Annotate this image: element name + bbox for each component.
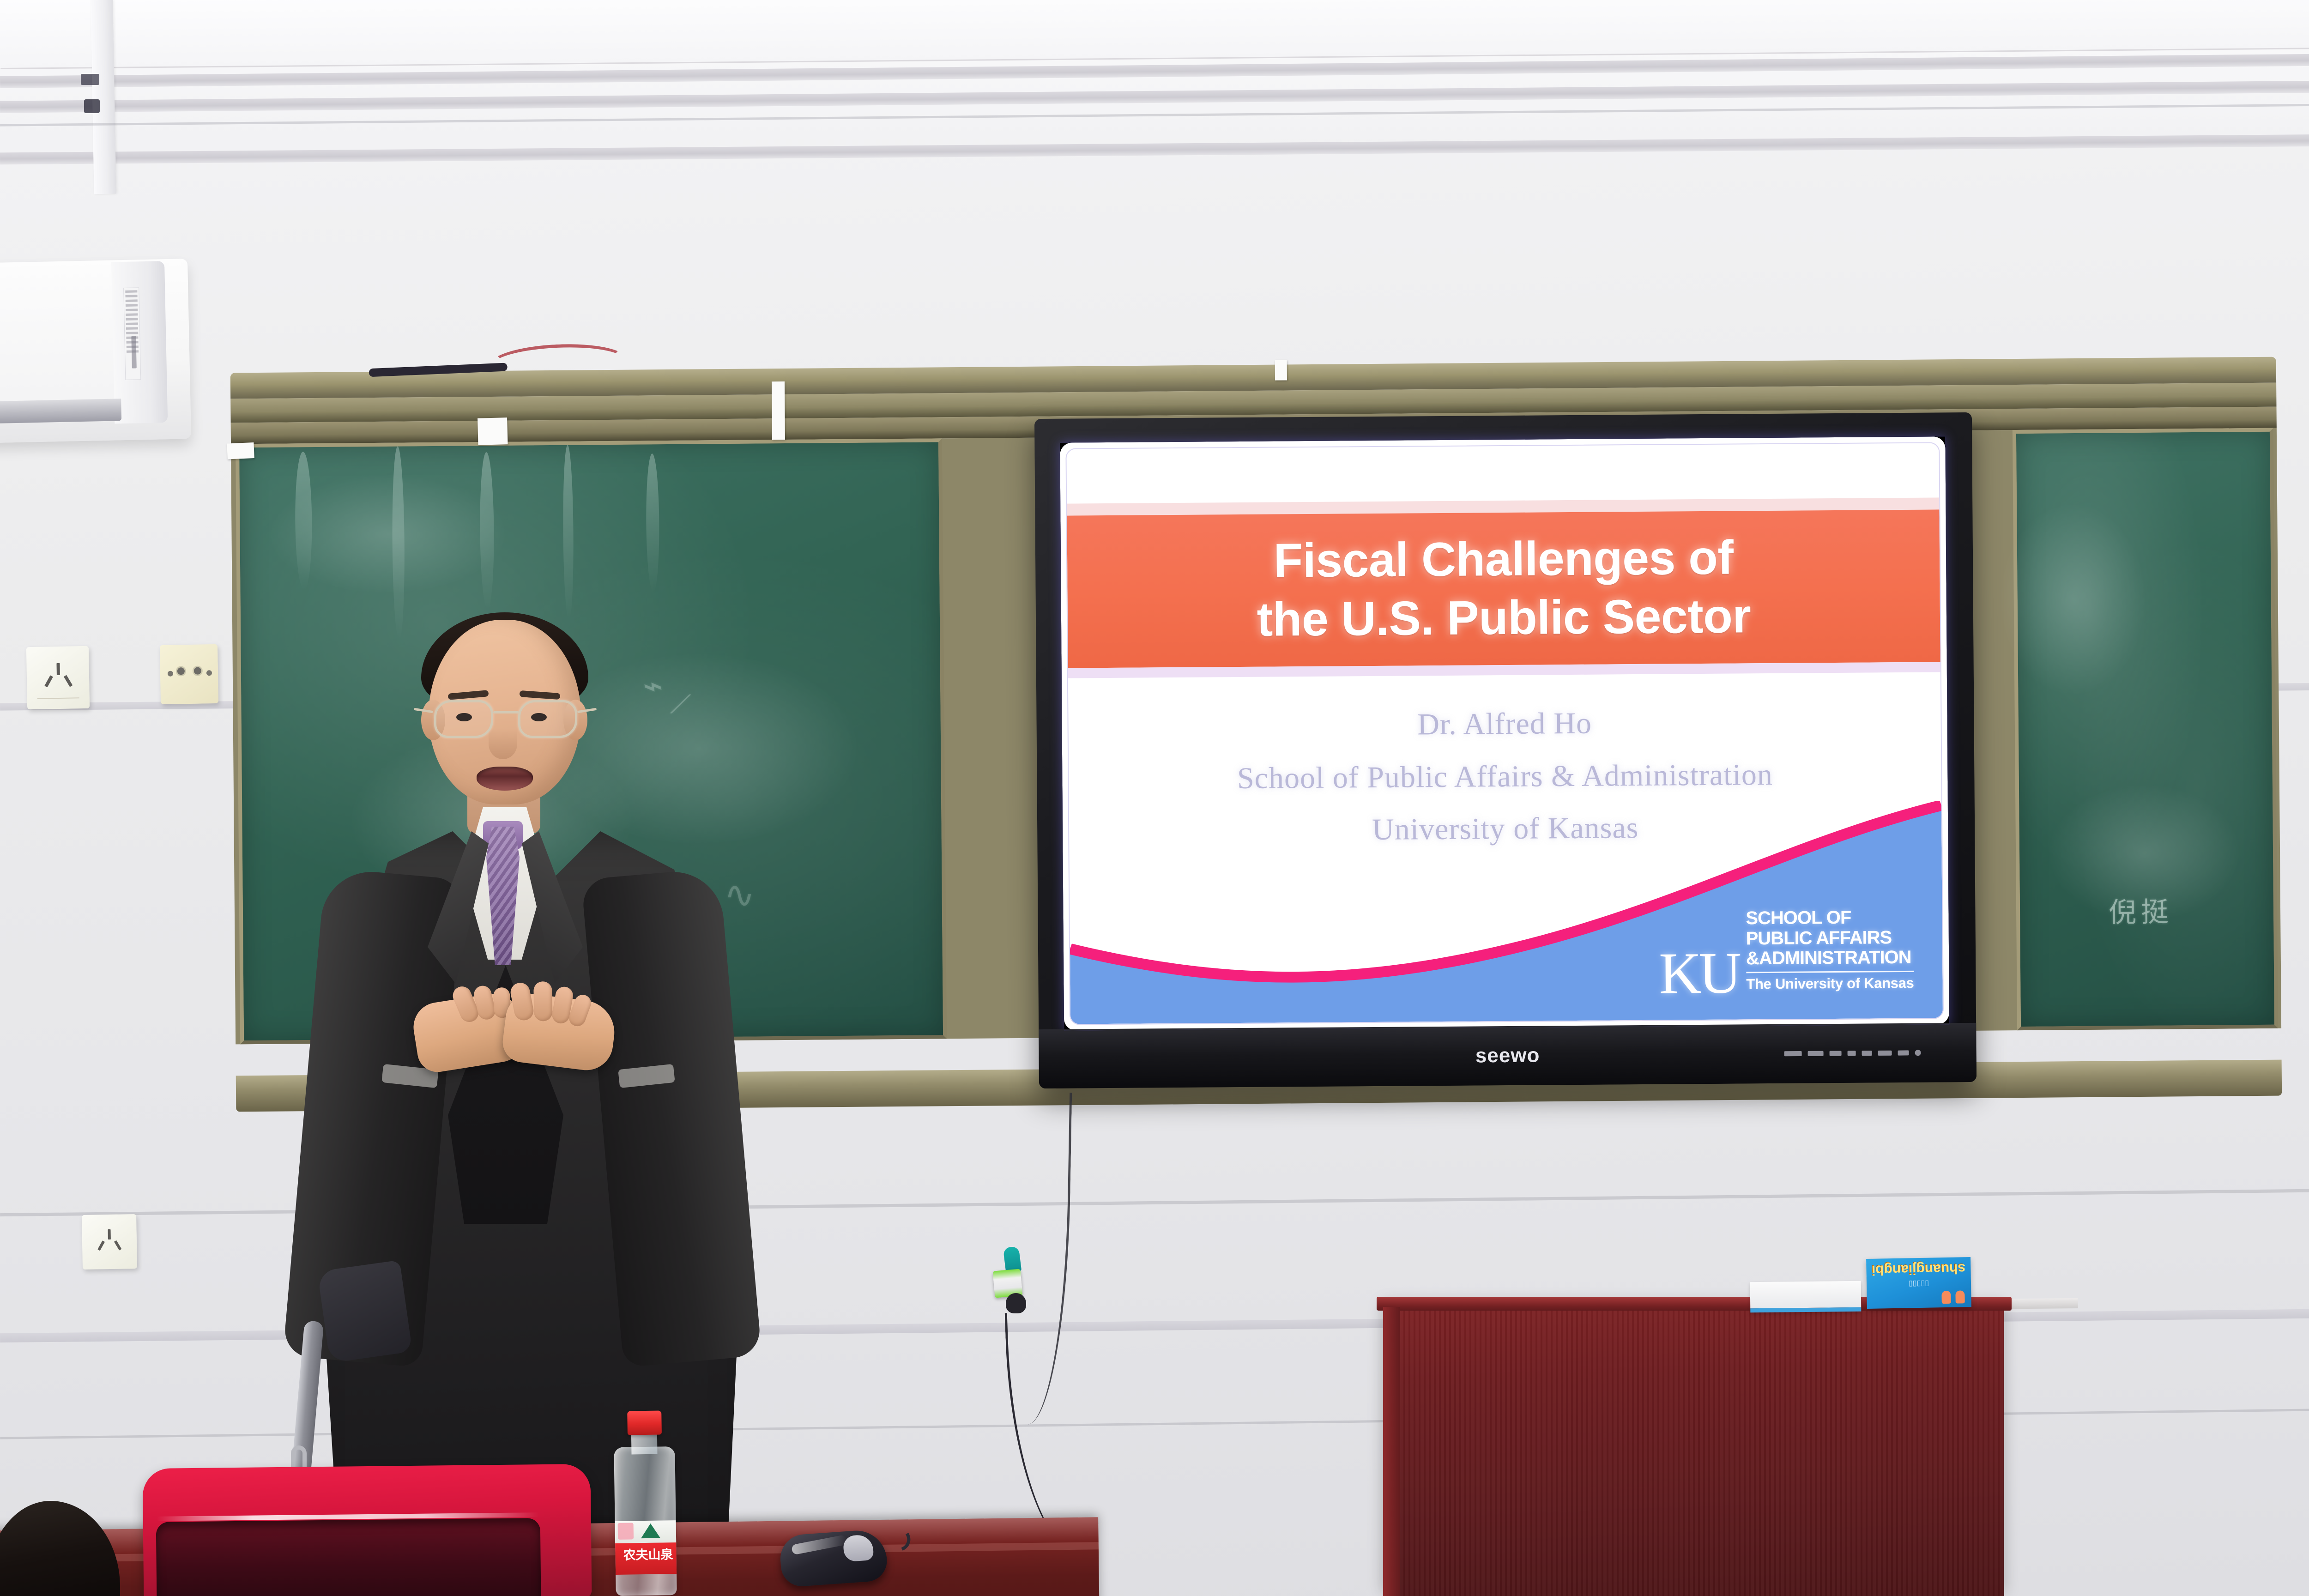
socket-seam [37, 697, 79, 699]
display-button[interactable] [1848, 1051, 1856, 1056]
presentation-slide: Fiscal Challenges of the U.S. Public Sec… [1060, 436, 1949, 1030]
slide-title-line-1: Fiscal Challenges of [1273, 529, 1733, 591]
ku-logo-tagline: The University of Kansas [1746, 975, 1914, 993]
slide-university-name: University of Kansas [1069, 799, 1942, 858]
ku-logo-line-1: SCHOOL OF [1746, 907, 1913, 929]
water-bottle[interactable]: 农夫山泉 [610, 1410, 683, 1596]
presenter [296, 614, 757, 1596]
socket-prong-top [56, 663, 60, 675]
mouse-highlight [791, 1535, 847, 1555]
mouse-button[interactable] [843, 1534, 874, 1562]
ku-logo-line-2: PUBLIC AFFAIRS [1746, 927, 1914, 949]
ceiling-bracket [91, 0, 116, 194]
computer-mouse[interactable] [779, 1529, 888, 1588]
socket-prong-left [97, 1240, 105, 1251]
audience-chair[interactable] [143, 1464, 592, 1596]
lower-power-socket[interactable] [82, 1214, 137, 1270]
socket-prong-right [64, 675, 73, 687]
chalk-streak [562, 445, 574, 621]
display-power-indicator[interactable] [1915, 1050, 1921, 1056]
display-brand-label: seewo [1475, 1044, 1540, 1067]
glasses-bridge [493, 711, 519, 713]
chalk-streak [479, 452, 495, 609]
chalk-streak [646, 453, 659, 592]
display-button[interactable] [1784, 1051, 1802, 1056]
bottle-label-badge [618, 1523, 634, 1539]
product-box-pill-icon [1941, 1291, 1951, 1304]
paper-tab [227, 442, 254, 459]
cable-strain-boot [1006, 1293, 1026, 1313]
slide-title-line-2: the U.S. Public Sector [1257, 587, 1751, 649]
flat-panel-display[interactable]: Fiscal Challenges of the U.S. Public Sec… [1034, 412, 1977, 1088]
chalkboard-right-panel[interactable]: 倪挺 [2013, 428, 2278, 1030]
finger [533, 981, 552, 1022]
ku-logo: KU SCHOOL OF PUBLIC AFFAIRS &ADMINISTRAT… [1658, 907, 1914, 997]
nose [489, 729, 517, 759]
chalk-streak [295, 452, 312, 590]
chalk-streak [392, 446, 405, 640]
lecture-hall-scene: ⌁ ⟋ ∿∿∿ ⌁ ⌁ 倪挺 [0, 0, 2309, 1596]
lens-right [518, 700, 577, 738]
chalk-smudge [1998, 502, 2147, 697]
podium-paper-stack[interactable] [1750, 1281, 1862, 1313]
display-bezel-bottom: seewo [1039, 1023, 1977, 1088]
slide-title-band: Fiscal Challenges of the U.S. Public Sec… [1067, 509, 1940, 668]
bottle-mountain-icon [641, 1523, 660, 1539]
ceiling-clip [81, 74, 99, 85]
bottle-brand-text: 农夫山泉 [615, 1544, 677, 1563]
slide-card: Fiscal Challenges of the U.S. Public Sec… [1065, 442, 1944, 1025]
slide-school-name: School of Public Affairs & Administratio… [1069, 747, 1941, 806]
slide-presenter-name: Dr. Alfred Ho [1068, 695, 1941, 753]
coax-port[interactable] [193, 665, 203, 676]
chalkboard-right-note: 倪挺 [2109, 889, 2174, 930]
chalk-smudge [267, 473, 508, 595]
display-button[interactable] [1878, 1051, 1892, 1056]
paper-tab [478, 417, 508, 445]
socket-prong-left [44, 675, 53, 687]
display-button[interactable] [1808, 1051, 1824, 1056]
lectern-left-edge [1383, 1307, 1400, 1596]
ac-front-panel [0, 265, 117, 415]
slide-subtitle-block: Dr. Alfred Ho School of Public Affairs &… [1068, 695, 1941, 858]
product-box-pill-icon [1955, 1290, 1964, 1303]
podium-product-box[interactable]: shuangjiangbi ▯▯▯▯▯ [1866, 1257, 1971, 1309]
display-button[interactable] [1862, 1051, 1872, 1056]
ac-air-vent [0, 399, 121, 424]
ceiling-clip [84, 99, 100, 113]
product-box-subtext: ▯▯▯▯▯ [1867, 1278, 1971, 1289]
paper-tab [1275, 360, 1287, 380]
paper-tab [772, 381, 785, 440]
port-dot [206, 670, 212, 676]
mouth [477, 767, 533, 791]
ku-logo-rule [1746, 971, 1914, 973]
display-screen[interactable]: Fiscal Challenges of the U.S. Public Sec… [1060, 436, 1949, 1030]
data-port-plate[interactable] [160, 644, 218, 704]
port-dot [168, 671, 173, 677]
display-button[interactable] [1830, 1051, 1842, 1056]
chair-back-cushion [156, 1518, 541, 1596]
socket-prong-top [108, 1229, 111, 1239]
lectern[interactable] [1383, 1307, 2004, 1596]
air-conditioner [0, 259, 191, 443]
ac-brand-mark [131, 336, 136, 368]
chalk-smudge [2047, 783, 2242, 923]
ku-logo-line-3: &ADMINISTRATION [1746, 948, 1914, 969]
power-socket[interactable] [26, 646, 90, 709]
socket-prong-right [114, 1240, 121, 1251]
bottle-cap[interactable] [627, 1411, 662, 1435]
chair-base [317, 1260, 412, 1363]
lens-left [434, 700, 493, 738]
product-box-label: shuangjiangbi [1866, 1260, 1971, 1278]
ku-wordmark: SCHOOL OF PUBLIC AFFAIRS &ADMINISTRATION… [1746, 907, 1914, 997]
display-button[interactable] [1898, 1050, 1909, 1055]
ku-monogram: KU [1659, 949, 1739, 998]
display-control-buttons[interactable] [1784, 1050, 1921, 1057]
coax-port[interactable] [176, 666, 186, 676]
